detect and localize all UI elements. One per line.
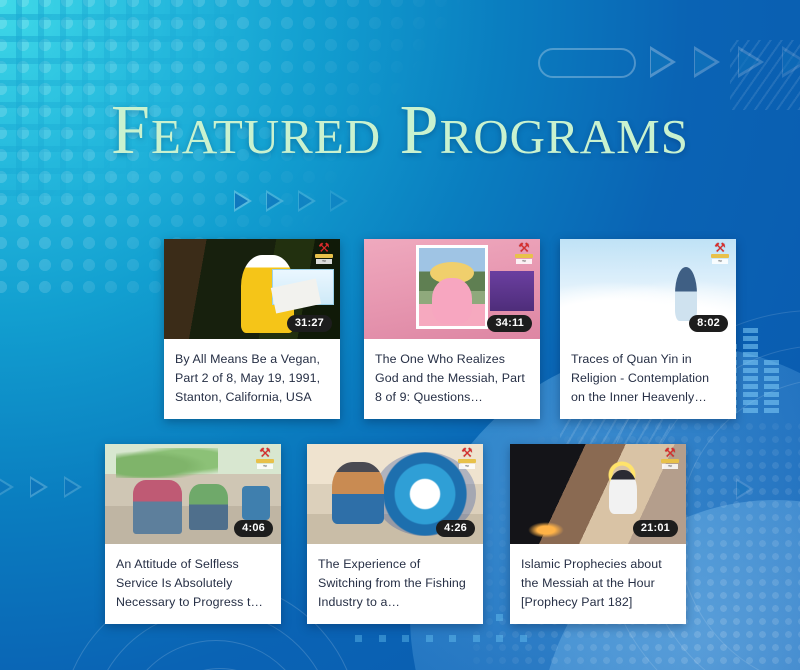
supreme-master-tv-logo-icon: ⚒TV [456, 447, 478, 469]
rounded-pill-outline-icon [538, 48, 636, 78]
program-thumbnail[interactable]: ⚒TV 21:01 [510, 444, 686, 544]
play-triangle-icon [0, 476, 14, 498]
program-title: By All Means Be a Vegan, Part 2 of 8, Ma… [164, 339, 340, 419]
supreme-master-tv-logo-icon: ⚒TV [254, 447, 276, 469]
play-triangle-icon [64, 476, 82, 498]
program-card[interactable]: ⚒TV 34:11 The One Who Realizes God and t… [364, 239, 540, 419]
program-thumbnail[interactable]: ⚒TV 4:06 [105, 444, 281, 544]
video-duration-badge: 21:01 [633, 520, 678, 537]
program-card[interactable]: ⚒TV 4:26 The Experience of Switching fro… [307, 444, 483, 624]
program-title: Islamic Prophecies about the Messiah at … [510, 544, 686, 624]
play-triangle-icon [30, 476, 48, 498]
play-triangle-icon [694, 46, 720, 78]
supreme-master-tv-logo-icon: ⚒TV [313, 242, 335, 264]
program-card[interactable]: ⚒TV 31:27 By All Means Be a Vegan, Part … [164, 239, 340, 419]
program-title: Traces of Quan Yin in Religion - Contemp… [560, 339, 736, 419]
play-triangle-icon [782, 46, 800, 78]
play-triangle-icon [298, 190, 316, 212]
play-triangle-icon [266, 190, 284, 212]
program-card[interactable]: ⚒TV 8:02 Traces of Quan Yin in Religion … [560, 239, 736, 419]
program-card[interactable]: ⚒TV 21:01 Islamic Prophecies about the M… [510, 444, 686, 624]
play-triangle-icon [330, 190, 348, 212]
program-thumbnail[interactable]: ⚒TV 4:26 [307, 444, 483, 544]
video-duration-badge: 8:02 [689, 315, 728, 332]
video-duration-badge: 31:27 [287, 315, 332, 332]
supreme-master-tv-logo-icon: ⚒TV [513, 242, 535, 264]
featured-programs-banner: Featured Programs ⚒TV 31:27 By All Means… [0, 0, 800, 670]
supreme-master-tv-logo-icon: ⚒TV [659, 447, 681, 469]
program-title: An Attitude of Selfless Service Is Absol… [105, 544, 281, 624]
play-triangle-icon [650, 46, 676, 78]
play-triangle-icon [736, 478, 754, 500]
program-thumbnail[interactable]: ⚒TV 31:27 [164, 239, 340, 339]
program-thumbnail[interactable]: ⚒TV 8:02 [560, 239, 736, 339]
video-duration-badge: 4:26 [436, 520, 475, 537]
page-title: Featured Programs [0, 96, 800, 166]
program-title: The One Who Realizes God and the Messiah… [364, 339, 540, 419]
supreme-master-tv-logo-icon: ⚒TV [709, 242, 731, 264]
video-duration-badge: 34:11 [487, 315, 532, 332]
program-card[interactable]: ⚒TV 4:06 An Attitude of Selfless Service… [105, 444, 281, 624]
program-title: The Experience of Switching from the Fis… [307, 544, 483, 624]
video-duration-badge: 4:06 [234, 520, 273, 537]
play-triangle-icon [738, 46, 764, 78]
play-triangle-icon [234, 190, 252, 212]
program-thumbnail[interactable]: ⚒TV 34:11 [364, 239, 540, 339]
